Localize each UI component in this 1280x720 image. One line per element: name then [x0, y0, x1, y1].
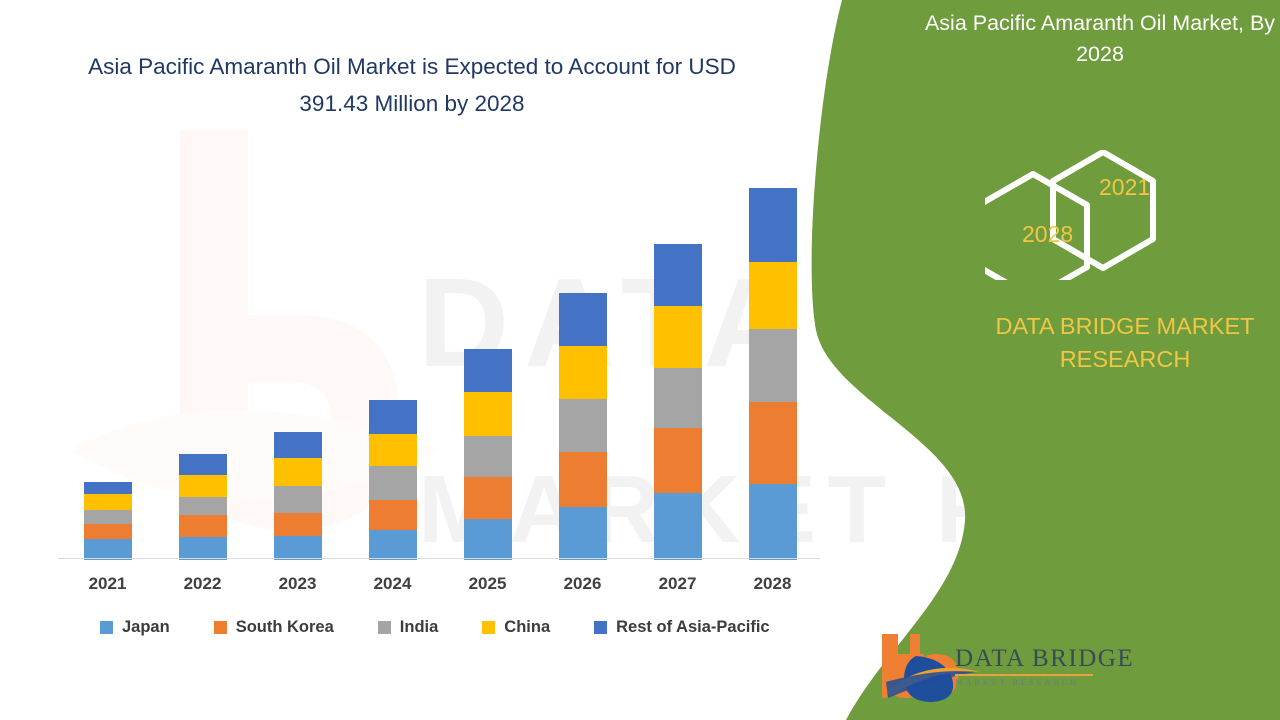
hexagon-2021-label: 2021: [1099, 174, 1150, 201]
bar-segment-south-korea-2021[interactable]: [84, 524, 132, 539]
bar-segment-china-2022[interactable]: [179, 475, 227, 497]
bar-segment-rest-of-asia-pacific-2023[interactable]: [274, 432, 322, 459]
x-axis-labels: 20212022202320242025202620272028: [60, 574, 820, 600]
bar-column-2027[interactable]: [654, 244, 702, 560]
bar-segment-rest-of-asia-pacific-2027[interactable]: [654, 244, 702, 307]
bar-column-2023[interactable]: [274, 432, 322, 560]
legend-swatch-icon: [482, 621, 495, 634]
bar-segment-india-2024[interactable]: [369, 466, 417, 500]
legend-item-south-korea[interactable]: South Korea: [214, 618, 334, 637]
bar-segment-india-2022[interactable]: [179, 497, 227, 515]
bar-segment-japan-2024[interactable]: [369, 530, 417, 560]
chart-plot-area: [60, 170, 820, 560]
bar-segment-japan-2023[interactable]: [274, 536, 322, 560]
bar-segment-china-2027[interactable]: [654, 306, 702, 368]
legend-item-japan[interactable]: Japan: [100, 618, 170, 637]
bar-segment-india-2021[interactable]: [84, 510, 132, 524]
bar-segment-rest-of-asia-pacific-2021[interactable]: [84, 482, 132, 494]
bar-segment-india-2028[interactable]: [749, 329, 797, 402]
x-tick-2023: 2023: [258, 574, 338, 594]
panel-title: Asia Pacific Amaranth Oil Market, By 202…: [920, 8, 1280, 70]
bar-segment-india-2023[interactable]: [274, 486, 322, 513]
bar-segment-china-2025[interactable]: [464, 392, 512, 437]
x-tick-2025: 2025: [448, 574, 528, 594]
hexagon-pair: [985, 150, 1185, 280]
bar-segment-japan-2025[interactable]: [464, 519, 512, 560]
bar-segment-japan-2026[interactable]: [559, 507, 607, 560]
legend-label: South Korea: [236, 618, 334, 637]
x-tick-2027: 2027: [638, 574, 718, 594]
bar-column-2025[interactable]: [464, 349, 512, 560]
legend-item-rest-of-asia-pacific[interactable]: Rest of Asia-Pacific: [594, 618, 769, 637]
bar-segment-rest-of-asia-pacific-2024[interactable]: [369, 400, 417, 433]
legend-item-china[interactable]: China: [482, 618, 550, 637]
bar-segment-china-2028[interactable]: [749, 262, 797, 329]
legend-swatch-icon: [214, 621, 227, 634]
bar-segment-rest-of-asia-pacific-2026[interactable]: [559, 293, 607, 346]
legend-swatch-icon: [100, 621, 113, 634]
bar-segment-rest-of-asia-pacific-2025[interactable]: [464, 349, 512, 392]
bar-segment-india-2026[interactable]: [559, 399, 607, 451]
legend-label: India: [400, 618, 439, 637]
bar-segment-south-korea-2022[interactable]: [179, 515, 227, 537]
chart-title: Asia Pacific Amaranth Oil Market is Expe…: [52, 48, 772, 122]
bar-segment-south-korea-2028[interactable]: [749, 402, 797, 484]
bar-segment-china-2023[interactable]: [274, 458, 322, 486]
legend-label: China: [504, 618, 550, 637]
bar-segment-india-2027[interactable]: [654, 368, 702, 428]
logo-line-1: DATA BRIDGE: [955, 645, 1134, 673]
bar-segment-china-2024[interactable]: [369, 434, 417, 466]
bar-segment-rest-of-asia-pacific-2022[interactable]: [179, 454, 227, 476]
bar-column-2026[interactable]: [559, 293, 607, 560]
chart-legend: JapanSouth KoreaIndiaChinaRest of Asia-P…: [100, 614, 814, 640]
logo-line-2: MARKET RESEARCH: [955, 677, 1134, 687]
x-tick-2021: 2021: [68, 574, 148, 594]
legend-label: Rest of Asia-Pacific: [616, 618, 769, 637]
bar-segment-japan-2028[interactable]: [749, 484, 797, 560]
chart-baseline: [58, 558, 820, 559]
x-tick-2022: 2022: [163, 574, 243, 594]
bar-segment-japan-2027[interactable]: [654, 493, 702, 560]
bar-segment-japan-2021[interactable]: [84, 539, 132, 560]
bar-segment-china-2026[interactable]: [559, 346, 607, 399]
hexagon-2021-shape: [1053, 152, 1153, 268]
x-tick-2026: 2026: [543, 574, 623, 594]
legend-label: Japan: [122, 618, 170, 637]
bar-column-2022[interactable]: [179, 454, 227, 560]
bar-column-2024[interactable]: [369, 400, 417, 560]
bar-segment-china-2021[interactable]: [84, 494, 132, 509]
bar-segment-india-2025[interactable]: [464, 436, 512, 477]
bar-segment-rest-of-asia-pacific-2028[interactable]: [749, 188, 797, 261]
brand-name: DATA BRIDGE MARKET RESEARCH: [975, 310, 1275, 376]
bar-segment-south-korea-2027[interactable]: [654, 428, 702, 493]
bar-segment-south-korea-2024[interactable]: [369, 500, 417, 529]
legend-item-india[interactable]: India: [378, 618, 439, 637]
logo-divider: [955, 674, 1093, 676]
logo-wordmark: DATA BRIDGE MARKET RESEARCH: [955, 645, 1134, 687]
legend-swatch-icon: [594, 621, 607, 634]
bar-segment-south-korea-2026[interactable]: [559, 452, 607, 507]
x-tick-2028: 2028: [733, 574, 813, 594]
bar-segment-south-korea-2023[interactable]: [274, 513, 322, 537]
x-tick-2024: 2024: [353, 574, 433, 594]
bar-segment-south-korea-2025[interactable]: [464, 477, 512, 519]
bar-column-2028[interactable]: [749, 188, 797, 560]
legend-swatch-icon: [378, 621, 391, 634]
bar-segment-japan-2022[interactable]: [179, 537, 227, 560]
hexagon-2028-label: 2028: [1022, 221, 1073, 248]
bar-column-2021[interactable]: [84, 482, 132, 560]
